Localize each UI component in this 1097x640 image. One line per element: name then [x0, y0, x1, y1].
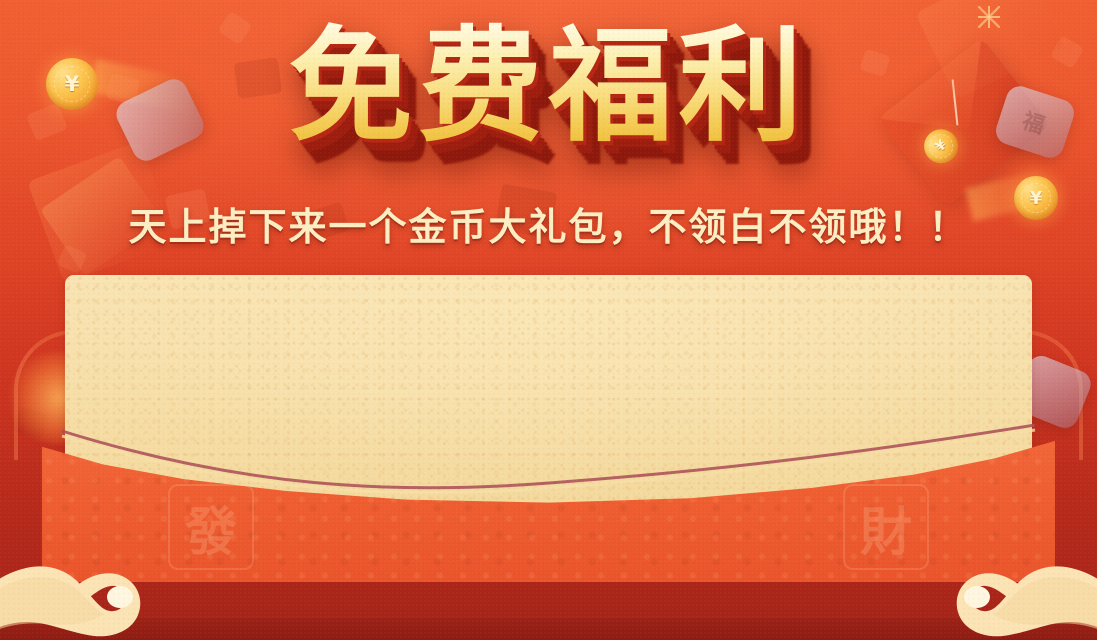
confetti-square — [13, 406, 49, 439]
envelope-letter-card: 發 財 — [65, 275, 1032, 575]
title-container: 免费福利 — [0, 22, 1097, 153]
seal-glyph-cai: 財 — [843, 484, 929, 570]
seal-glyph-fa: 發 — [168, 484, 254, 570]
page-subtitle: 天上掉下来一个金币大礼包，不领白不领哦！！ — [0, 196, 1097, 251]
base-shadow-band — [0, 618, 1097, 640]
page-title: 免费福利 — [288, 22, 808, 153]
promo-banner: ¥ ¥ 福 ¥ 免费福利 天上掉下来一个金币大礼包，不领白不领哦！！ — [0, 0, 1097, 640]
envelope-seam — [62, 423, 1035, 483]
